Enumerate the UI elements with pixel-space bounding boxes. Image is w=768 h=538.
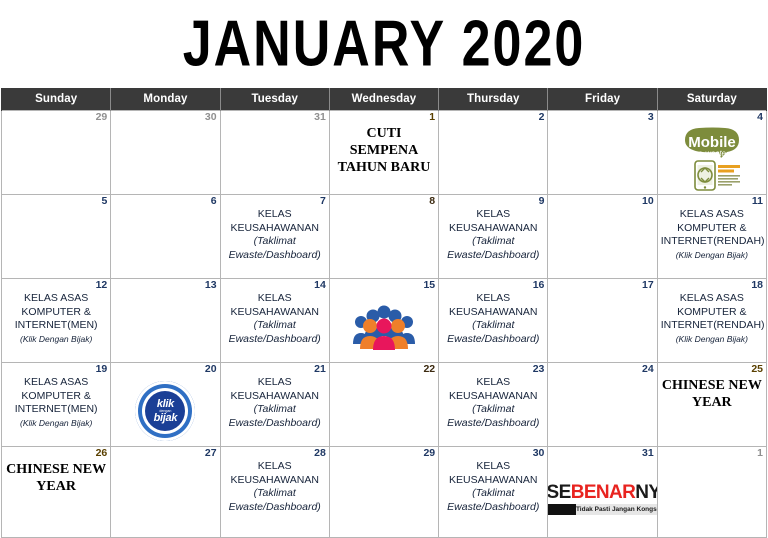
calendar-day-cell[interactable]: 12KELAS ASASKOMPUTER &INTERNET(MEN)(Klik… [2,279,111,363]
day-number: 29 [96,111,108,124]
sebenarnya-tagline: Tidak Pasti Jangan Kongsi [576,504,657,515]
event-line-1: KELAS ASAS [5,292,107,306]
event-line-2: KEUSAHAWANAN [224,306,326,320]
event-kelas-keusahawanan: KELASKEUSAHAWANAN(TaklimatEwaste/Dashboa… [439,195,547,264]
event-note-line-2: Ewaste/Dashboard) [224,249,326,263]
event-line-1: KELAS [442,292,544,306]
calendar-week-row: 26CHINESE NEWYEAR2728KELASKEUSAHAWANAN(T… [2,447,767,538]
event-note: (Klik Dengan Bijak) [5,417,107,431]
day-number: 2 [539,111,545,124]
calendar-day-cell[interactable]: 10 [548,195,657,279]
calendar-day-cell[interactable]: 11KELAS ASASKOMPUTER &INTERNET(RENDAH)(K… [657,195,766,279]
event-note-line-2: Ewaste/Dashboard) [224,333,326,347]
calendar-day-cell[interactable]: 31SEBENARNYA.MYTidak Pasti Jangan Kongsi [548,447,657,538]
event-note-line-1: (Taklimat [442,319,544,333]
calendar-day-cell[interactable]: 30 [111,111,220,195]
event-line-2: KEUSAHAWANAN [442,390,544,404]
day-number: 12 [96,279,108,292]
day-number: 17 [642,279,654,292]
sebenarnya-part-3: NYA.MY [635,482,657,503]
event-line-2: KOMPUTER & [661,222,763,236]
event-kelas-asas-komputer: KELAS ASASKOMPUTER &INTERNET(MEN)(Klik D… [2,363,110,432]
calendar-day-cell[interactable]: 9KELASKEUSAHAWANAN(TaklimatEwaste/Dashbo… [439,195,548,279]
event-kelas-keusahawanan: KELASKEUSAHAWANAN(TaklimatEwaste/Dashboa… [221,447,329,516]
event-line-2: WARGA EMAS [333,390,435,404]
calendar-day-cell[interactable]: 6 [111,195,220,279]
day-number: 28 [314,447,326,460]
event-line-1: KELAS ASAS [661,208,763,222]
calendar-day-cell[interactable]: 24 [548,363,657,447]
calendar-day-cell[interactable]: 22MESYUARAT KELABWARGA EMAS(TaklimatEwas… [329,363,438,447]
event-note-line-1: (Taklimat [333,414,435,428]
event-note-line-1: (Taklimat [224,487,326,501]
day-number: 18 [751,279,763,292]
calendar-page: JANUARY 2020 Sunday Monday Tuesday Wedne… [0,0,768,538]
weekday-header-wednesday: Wednesday [329,88,438,111]
weekday-header-row: Sunday Monday Tuesday Wednesday Thursday… [2,88,767,111]
event-line-3: INTERNET(MEN) [5,403,107,417]
day-number: 9 [539,195,545,208]
calendar-day-cell[interactable]: 8SEMAKAN KELAYAKANPEKA B40 UNTUKWARGA EM… [329,195,438,279]
sebenarnya-part-2: BENAR [571,482,636,503]
day-number: 16 [533,279,545,292]
calendar-week-row: 2930311CUTI SEMPENATAHUN BARU234Mobilee-… [2,111,767,195]
event-line-2: KOMPUTER & [5,306,107,320]
event-cuti-tahun-baru: CUTI SEMPENATAHUN BARU [330,111,438,178]
page-title: JANUARY 2020 [183,12,586,77]
event-note-line-1: (Taklimat [224,319,326,333]
weekday-header-thursday: Thursday [439,88,548,111]
day-number: 7 [320,195,326,208]
sebenarnya-black-block [548,504,576,515]
calendar-day-cell[interactable]: 23KELASKEUSAHAWANAN(TaklimatEwaste/Dashb… [439,363,548,447]
calendar-day-cell[interactable]: 27 [111,447,220,538]
event-kelas-asas-komputer: KELAS ASASKOMPUTER &INTERNET(MEN)(Klik D… [2,279,110,348]
calendar-week-row: 19KELAS ASASKOMPUTER &INTERNET(MEN)(Klik… [2,363,767,447]
day-number: 8 [429,195,435,208]
ewaste-logo-wrap: Mobilee-waste [658,124,766,194]
calendar-day-cell[interactable]: 28KELASKEUSAHAWANAN(TaklimatEwaste/Dashb… [220,447,329,538]
klik-logo-text: klikdenganbijak [154,399,178,423]
calendar-day-cell[interactable]: 31 [220,111,329,195]
event-note-line-2: Ewaste/Dashboard) [442,333,544,347]
day-number: 19 [96,363,108,376]
calendar-day-cell[interactable]: 26CHINESE NEWYEAR [2,447,111,538]
weekday-header-sunday: Sunday [2,88,111,111]
calendar-day-cell[interactable]: 30KELASKEUSAHAWANAN(TaklimatEwaste/Dashb… [439,447,548,538]
sebenarnya-my-logo-icon: SEBENARNYA.MYTidak Pasti Jangan Kongsi [548,483,657,515]
event-note-line-1: (Taklimat [442,235,544,249]
day-number: 4 [757,111,763,124]
event-line-1: KELAS [224,460,326,474]
calendar-day-cell[interactable]: 3 [548,111,657,195]
day-number: 3 [648,111,654,124]
event-mesyuarat-kelab-warga-emas: MESYUARAT KELABWARGA EMAS(TaklimatEwaste… [330,363,438,443]
people-icon-wrap [330,292,438,362]
event-line-1: CHINESE NEW [662,378,762,393]
day-number: 29 [423,447,435,460]
day-number: 30 [205,111,217,124]
event-line-2: KEUSAHAWANAN [224,474,326,488]
event-line-2: TAHUN BARU [338,160,431,175]
day-number: 14 [314,279,326,292]
day-number: 15 [423,279,435,292]
day-number: 24 [642,363,654,376]
event-note-line-1: (Taklimat [224,403,326,417]
day-number: 1 [429,111,435,124]
event-note-line-2: Ewaste/Dashboard) [224,417,326,431]
mobile-ewaste-logo-icon: Mobilee-waste [675,126,749,192]
event-kelas-keusahawanan: KELASKEUSAHAWANAN(TaklimatEwaste/Dashboa… [221,195,329,264]
event-chinese-new-year: CHINESE NEWYEAR [2,447,110,497]
day-number: 6 [211,195,217,208]
day-number: 10 [642,195,654,208]
day-number: 31 [314,111,326,124]
event-line-2: PEKA B40 UNTUK [333,235,435,249]
day-number: 21 [314,363,326,376]
event-line-2: KOMPUTER & [5,390,107,404]
event-note-line-1: (Taklimat [224,235,326,249]
event-line-2: KEUSAHAWANAN [224,390,326,404]
event-line-2: KEUSAHAWANAN [442,222,544,236]
event-semakan-peka-b40: SEMAKAN KELAYAKANPEKA B40 UNTUKWARGA EMA… [330,195,438,264]
event-note: (Klik Dengan Bijak) [661,333,763,347]
calendar-day-cell[interactable]: 1CUTI SEMPENATAHUN BARU [329,111,438,195]
event-note-line-2: Ewaste/Dashboard) [224,501,326,515]
day-number: 22 [423,363,435,376]
event-line-2: KEUSAHAWANAN [442,474,544,488]
calendar-day-cell[interactable]: 15 [329,279,438,363]
event-line-1: MESYUARAT KELAB [333,376,435,390]
weekday-header-saturday: Saturday [657,88,766,111]
event-line-1: CHINESE NEW [6,462,106,477]
day-number: 5 [101,195,107,208]
event-note: (Klik Dengan Bijak) [661,249,763,263]
event-chinese-new-year: CHINESE NEWYEAR [658,363,766,413]
event-line-1: KELAS ASAS [661,292,763,306]
event-line-3: INTERNET(RENDAH) [661,319,763,333]
calendar-day-cell[interactable]: 19KELAS ASASKOMPUTER &INTERNET(MEN)(Klik… [2,363,111,447]
sebenarnya-logo-wrap: SEBENARNYA.MYTidak Pasti Jangan Kongsi [548,460,656,537]
event-note: (Klik Dengan Bijak) [5,333,107,347]
event-note-line-2: Ewaste/Dashboard) [442,249,544,263]
calendar-day-cell[interactable]: 25CHINESE NEWYEAR [657,363,766,447]
klik-logo-subtext: dengan [154,409,178,413]
event-note-line-2: Ewaste/Dashboard) [333,428,435,442]
event-line-1: KELAS [224,292,326,306]
weekday-header-tuesday: Tuesday [220,88,329,111]
svg-text:e-waste: e-waste [698,149,727,158]
event-kelas-keusahawanan: KELASKEUSAHAWANAN(TaklimatEwaste/Dashboa… [439,279,547,348]
event-line-3: WARGA EMAS [333,249,435,263]
calendar-day-cell[interactable]: 29 [329,447,438,538]
event-line-2: KEUSAHAWANAN [224,222,326,236]
day-number: 11 [752,195,763,208]
sebenarnya-tagline-row: Tidak Pasti Jangan Kongsi [548,504,657,515]
event-line-1: KELAS [224,376,326,390]
event-note-line-1: (Taklimat [442,487,544,501]
event-line-1: KELAS [224,208,326,222]
day-number: 27 [205,447,217,460]
event-line-1: KELAS [442,376,544,390]
event-line-2: YEAR [692,395,732,410]
event-kelas-keusahawanan: KELASKEUSAHAWANAN(TaklimatEwaste/Dashboa… [221,363,329,432]
day-number: 13 [205,279,217,292]
calendar-day-cell[interactable]: 17 [548,279,657,363]
event-kelas-asas-komputer: KELAS ASASKOMPUTER &INTERNET(RENDAH)(Kli… [658,279,766,348]
day-number: 26 [96,447,108,460]
event-line-3: INTERNET(MEN) [5,319,107,333]
calendar-day-cell[interactable]: 4Mobilee-waste [657,111,766,195]
calendar-day-cell[interactable]: 14KELASKEUSAHAWANAN(TaklimatEwaste/Dashb… [220,279,329,363]
calendar-grid: Sunday Monday Tuesday Wednesday Thursday… [1,88,767,538]
event-line-1: CUTI SEMPENA [350,126,418,158]
event-spacer [333,403,435,414]
event-kelas-keusahawanan: KELASKEUSAHAWANAN(TaklimatEwaste/Dashboa… [439,447,547,516]
calendar-body: 2930311CUTI SEMPENATAHUN BARU234Mobilee-… [2,111,767,538]
event-line-1: KELAS [442,460,544,474]
event-note-line-1: (Taklimat [442,403,544,417]
day-number: 1 [757,447,763,460]
event-note-line-2: Ewaste/Dashboard) [442,501,544,515]
event-kelas-asas-komputer: KELAS ASASKOMPUTER &INTERNET(RENDAH)(Kli… [658,195,766,264]
calendar-day-cell[interactable]: 7KELASKEUSAHAWANAN(TaklimatEwaste/Dashbo… [220,195,329,279]
sebenarnya-wordmark: SEBENARNYA.MY [548,483,657,503]
calendar-day-cell[interactable]: 20klikdenganbijak [111,363,220,447]
klik-dengan-bijak-logo-icon: klikdenganbijak [135,381,195,441]
event-line-1: KELAS ASAS [5,376,107,390]
calendar-week-row: 12KELAS ASASKOMPUTER &INTERNET(MEN)(Klik… [2,279,767,363]
event-line-3: INTERNET(RENDAH) [661,235,763,249]
event-note-line-2: Ewaste/Dashboard) [442,417,544,431]
event-line-1: KELAS [442,208,544,222]
calendar-day-cell[interactable]: 29 [2,111,111,195]
calendar-title-bar: JANUARY 2020 [0,0,768,88]
calendar-day-cell[interactable]: 18KELAS ASASKOMPUTER &INTERNET(RENDAH)(K… [657,279,766,363]
event-line-1: SEMAKAN KELAYAKAN [333,208,435,235]
event-kelas-keusahawanan: KELASKEUSAHAWANAN(TaklimatEwaste/Dashboa… [439,363,547,432]
day-number: 30 [533,447,545,460]
day-number: 20 [205,363,217,376]
calendar-week-row: 567KELASKEUSAHAWANAN(TaklimatEwaste/Dash… [2,195,767,279]
day-number: 23 [533,363,545,376]
event-line-2: YEAR [36,479,76,494]
sebenarnya-part-1: SE [548,482,571,503]
calendar-day-cell[interactable]: 2 [439,111,548,195]
calendar-day-cell[interactable]: 1 [657,447,766,538]
event-line-2: KOMPUTER & [661,306,763,320]
day-number: 25 [751,363,763,376]
calendar-day-cell[interactable]: 16KELASKEUSAHAWANAN(TaklimatEwaste/Dashb… [439,279,548,363]
weekday-header-monday: Monday [111,88,220,111]
weekday-header-friday: Friday [548,88,657,111]
day-number: 31 [642,447,654,460]
klik-logo-wrap: klikdenganbijak [111,376,219,446]
calendar-day-cell[interactable]: 5 [2,195,111,279]
event-kelas-keusahawanan: KELASKEUSAHAWANAN(TaklimatEwaste/Dashboa… [221,279,329,348]
calendar-day-cell[interactable]: 21KELASKEUSAHAWANAN(TaklimatEwaste/Dashb… [220,363,329,447]
group-of-people-icon [353,304,415,350]
event-line-2: KEUSAHAWANAN [442,306,544,320]
calendar-day-cell[interactable]: 13 [111,279,220,363]
